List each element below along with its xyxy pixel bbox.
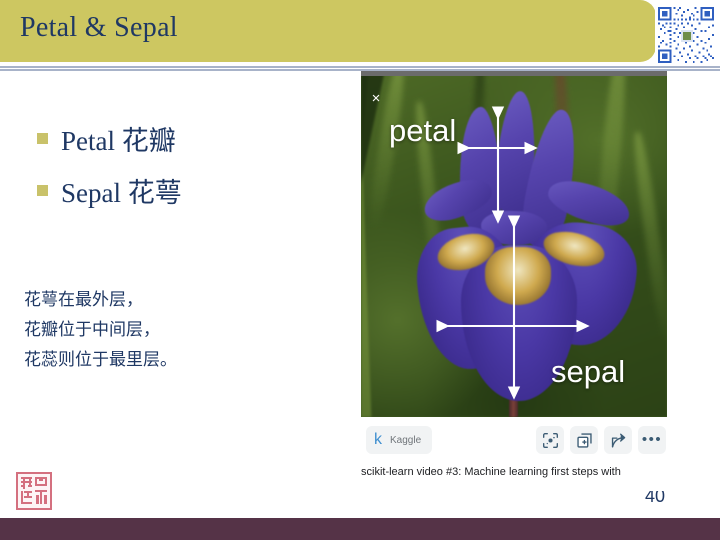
divider-line-upper xyxy=(0,66,720,68)
add-collection-icon[interactable] xyxy=(570,426,598,454)
list-item: Petal 花瓣 xyxy=(30,112,330,164)
chinese-seal-icon xyxy=(16,472,52,510)
annotation-overlay: × xyxy=(361,71,667,417)
more-dots-glyph: ••• xyxy=(642,435,662,445)
note-line: 花蕊则位于最里层。 xyxy=(24,345,324,375)
note-paragraph: 花萼在最外层， 花瓣位于中间层， 花蕊则位于最里层。 xyxy=(24,285,324,375)
iris-flower-photo[interactable]: × xyxy=(361,71,667,417)
bullet-label: Sepal 花萼 xyxy=(61,171,182,210)
slide-canvas: Petal & Sepal xyxy=(0,0,720,540)
note-line: 花瓣位于中间层， xyxy=(24,315,324,345)
image-card-toolbar: k Kaggle xyxy=(361,419,667,463)
bullet-label: Petal 花瓣 xyxy=(61,119,176,158)
image-caption: scikit-learn video #3: Machine learning … xyxy=(361,465,667,480)
lens-icon[interactable] xyxy=(536,426,564,454)
kaggle-logo-icon: k xyxy=(374,431,382,449)
qr-code-icon[interactable] xyxy=(655,4,717,66)
page-title: Petal & Sepal xyxy=(20,12,178,44)
bullet-list: Petal 花瓣 Sepal 花萼 xyxy=(30,112,330,216)
source-site-chip[interactable]: k Kaggle xyxy=(366,426,432,454)
share-icon[interactable] xyxy=(604,426,632,454)
sepal-annotation-label: sepal xyxy=(551,354,625,390)
note-line: 花萼在最外层， xyxy=(24,285,324,315)
list-item: Sepal 花萼 xyxy=(30,164,330,216)
image-result-card: × xyxy=(361,71,667,491)
petal-annotation-label: petal xyxy=(389,113,456,149)
source-site-name: Kaggle xyxy=(390,435,421,446)
more-dots-icon[interactable]: ••• xyxy=(638,426,666,454)
slide-footer-band xyxy=(0,518,720,540)
square-bullet-icon xyxy=(37,185,48,196)
square-bullet-icon xyxy=(37,133,48,144)
